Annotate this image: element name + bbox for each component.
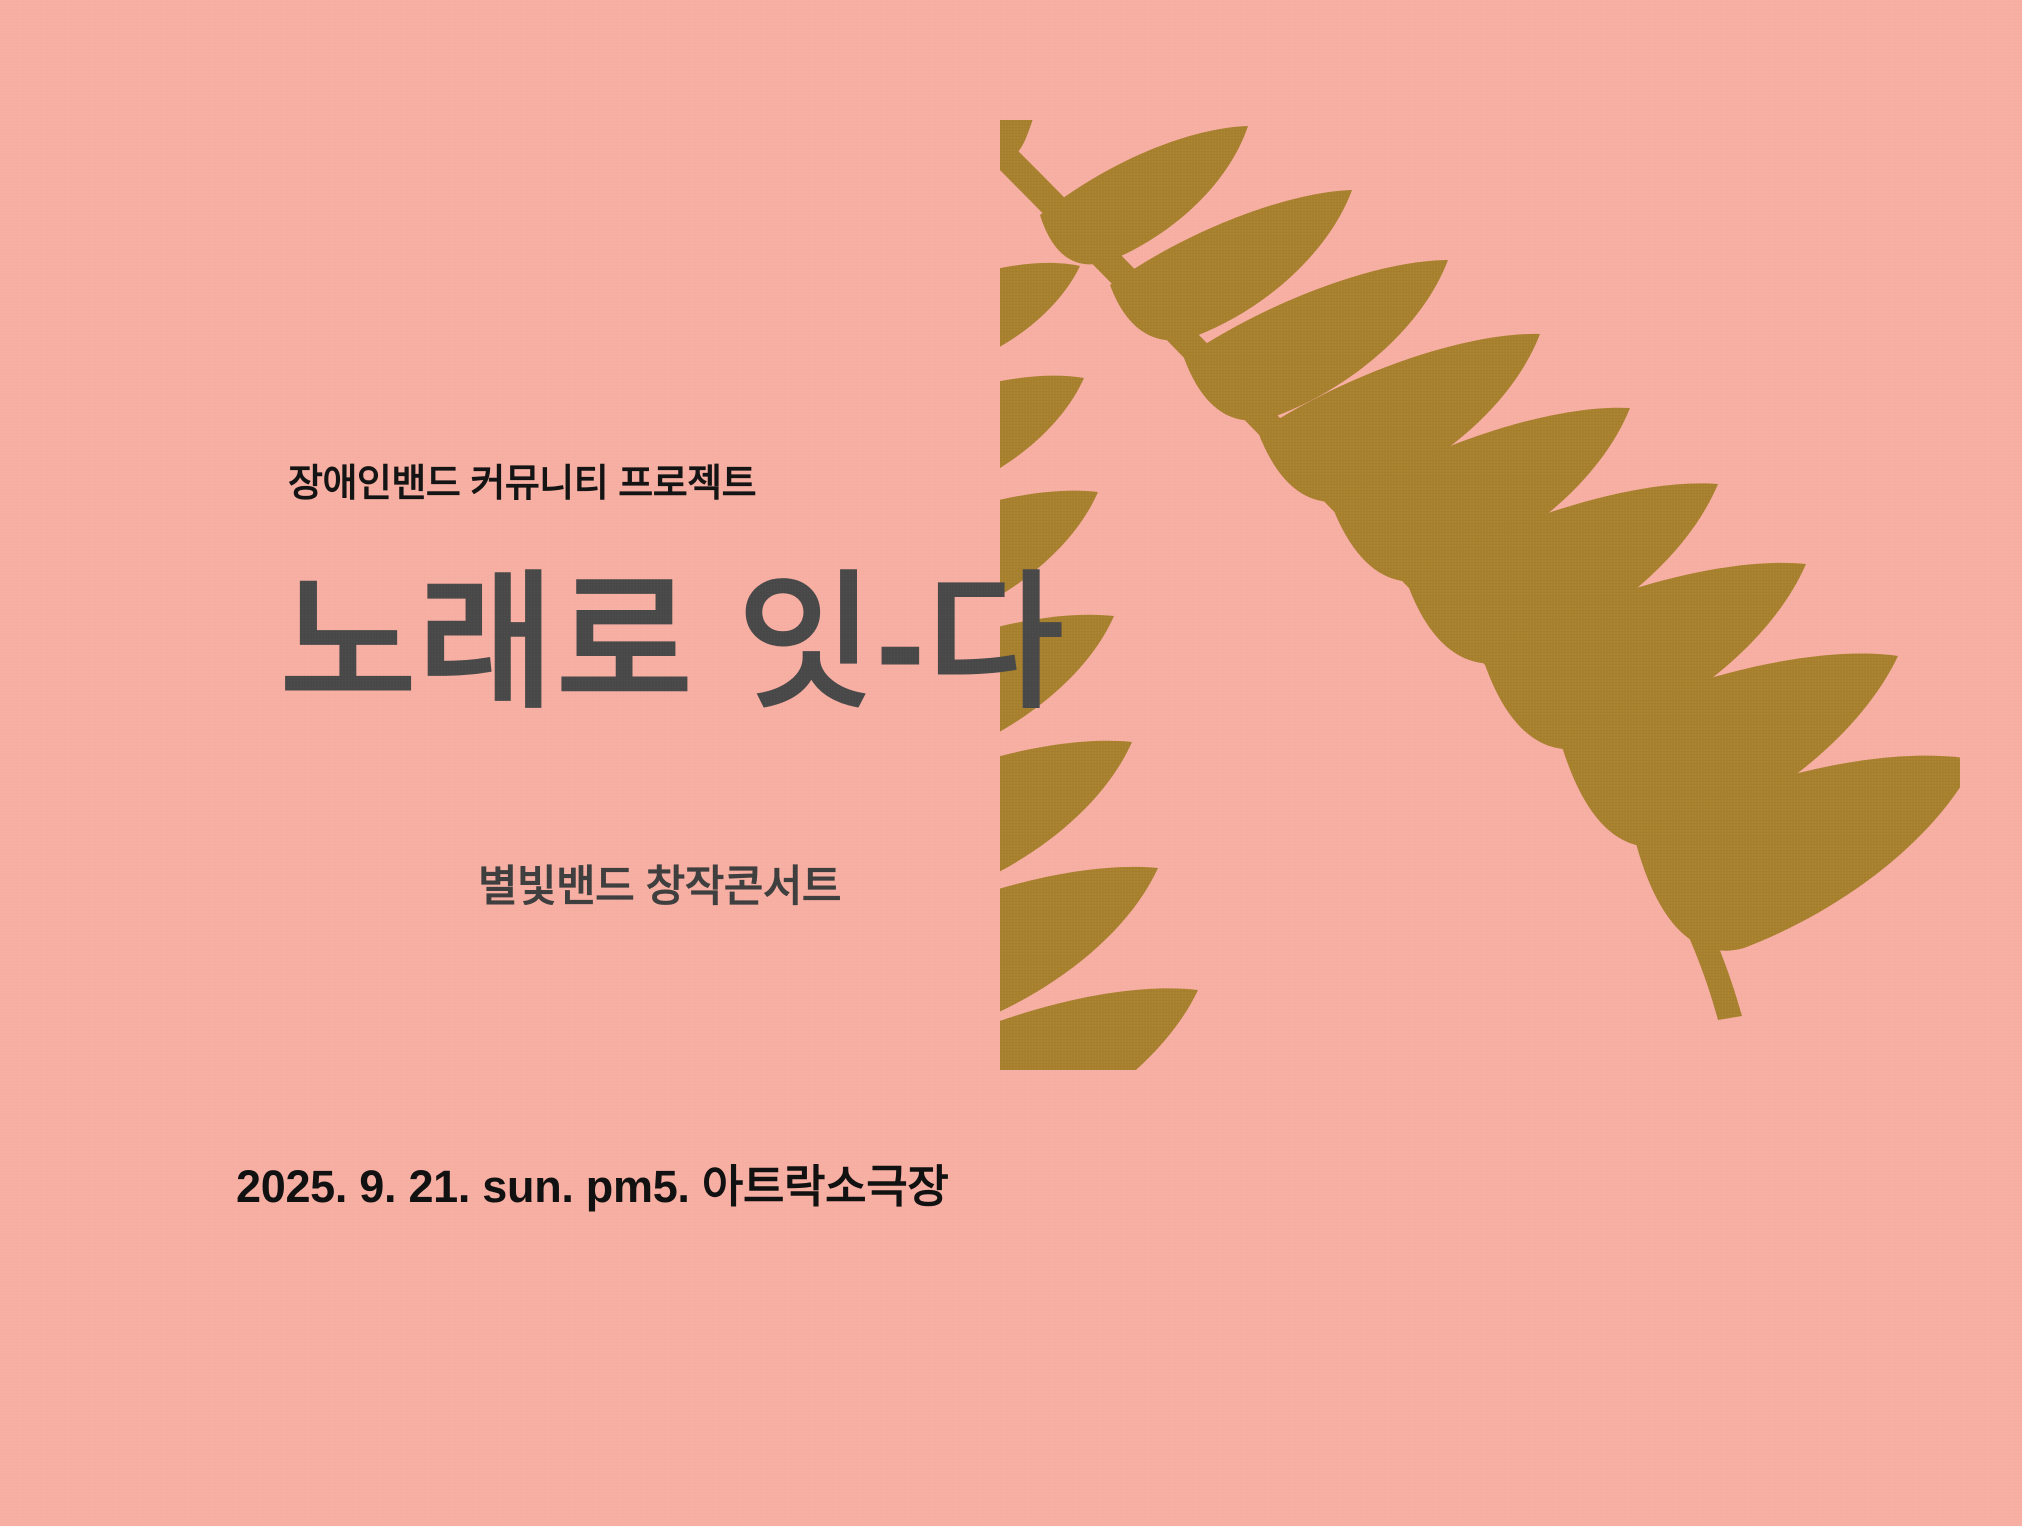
logo-row: Jeju 제주특별자치도 삶, 사회 그리고 공동체 사단 법인 행복나눔 제주… [0,1230,2022,1390]
date-venue-text: 2025. 9. 21. sun. pm5. 아트락소극장 [236,1150,948,1215]
fern-leaf-illustration [1000,120,1960,1070]
poster-canvas: 장애인밴드 커뮤니티 프로젝트 노래로 잇-다 별빛밴드 창작콘서트 2025.… [0,0,2022,1526]
headline-title: 노래로 잇-다 [280,570,1065,718]
subtitle-text: 별빛밴드 창작콘서트 [478,852,841,914]
kicker-text: 장애인밴드 커뮤니티 프로젝트 [288,452,756,507]
